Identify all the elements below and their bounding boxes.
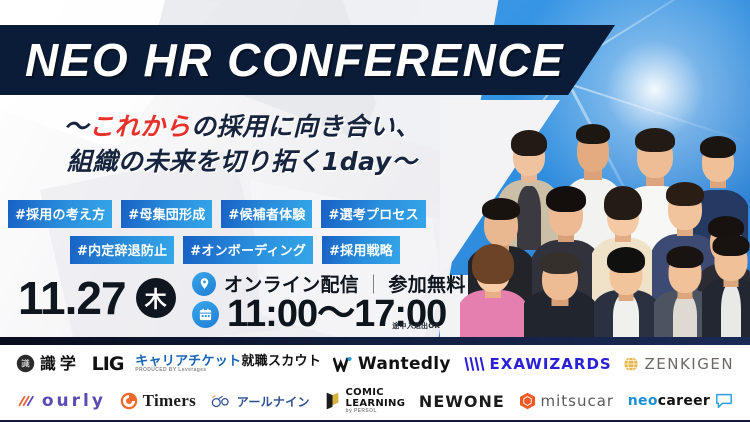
headline-band: NEO HR CONFERENCE xyxy=(0,25,615,95)
sponsor-logo-zenkigen[interactable]: ZENKIGEN xyxy=(623,355,734,373)
svg-text:識: 識 xyxy=(21,358,30,370)
tag-item[interactable]: #採用戦略 xyxy=(322,236,400,264)
sponsor-logo-bar: 識 識学 LIG キャリアチケット就職スカウト PRODUCED BY Leve… xyxy=(0,345,750,422)
sponsor-name-part2: 就職スカウト xyxy=(241,354,321,369)
sponsor-logo-career-ticket[interactable]: キャリアチケット就職スカウト PRODUCED BY Leverages xyxy=(135,355,321,373)
mitsucar-hex-icon xyxy=(519,392,536,410)
sponsor-logo-ourly[interactable]: ourly xyxy=(17,391,106,411)
tag-item[interactable]: #採用の考え方 xyxy=(8,200,112,228)
speaker-portrait xyxy=(594,242,658,345)
sponsor-logo-wantedly[interactable]: Wantedly xyxy=(333,354,451,374)
ourly-slashes-icon xyxy=(17,393,37,409)
timers-spiral-icon xyxy=(120,392,138,410)
sponsor-name-part1: neo xyxy=(628,393,658,409)
exawizards-stripes-icon xyxy=(463,356,485,372)
sponsor-logo-shikigaku[interactable]: 識 識学 xyxy=(16,354,80,373)
date-number: 11.27 xyxy=(18,275,126,321)
tag-row-1: #採用の考え方 #母集団形成 #候補者体験 #選考プロセス xyxy=(8,200,460,228)
day-of-week-badge: 木 xyxy=(136,278,176,318)
sponsor-logo-newone[interactable]: NEWONE xyxy=(419,392,505,411)
sponsor-logo-mitsucar[interactable]: mitsucar xyxy=(519,392,615,410)
sponsor-name: Timers xyxy=(143,391,196,411)
sponsor-name: Wantedly xyxy=(358,354,451,374)
sponsor-logo-r-nine[interactable]: アールナイン xyxy=(210,393,310,410)
location-pin-icon xyxy=(192,272,216,296)
speaker-photo-collage xyxy=(440,100,750,345)
sponsor-logo-lig[interactable]: LIG xyxy=(92,353,124,375)
sponsor-name-part2: career xyxy=(658,393,710,409)
subtitle-prefix: 〜 xyxy=(63,112,89,141)
zenkigen-globe-icon xyxy=(623,356,639,372)
event-date: 11.27 木 xyxy=(18,275,176,321)
sponsor-subtext: PRODUCED BY Leverages xyxy=(135,368,206,373)
sponsor-row-1: 識 識学 LIG キャリアチケット就職スカウト PRODUCED BY Leve… xyxy=(0,345,750,383)
sponsor-name: neocareer xyxy=(628,393,710,409)
page-title: NEO HR CONFERENCE xyxy=(25,33,564,87)
sponsor-name: キャリアチケット就職スカウト xyxy=(135,355,321,368)
wantedly-w-icon xyxy=(333,356,353,372)
sponsor-name: ZENKIGEN xyxy=(644,355,734,373)
sponsor-logo-comic-learning[interactable]: COMIC LEARNING by PERSOL xyxy=(324,388,406,414)
sponsor-name: LIG xyxy=(92,353,124,375)
section-divider xyxy=(0,337,750,345)
speaker-portrait xyxy=(702,226,750,345)
sponsor-logo-exawizards[interactable]: EXAWIZARDS xyxy=(463,355,612,373)
sponsor-name: NEWONE xyxy=(419,392,505,411)
r-nine-symbol-icon xyxy=(210,393,232,409)
speaker-portrait xyxy=(524,246,596,345)
tag-item[interactable]: #選考プロセス xyxy=(321,200,425,228)
subtitle-line2: 組織の未来を切り拓く1day〜 xyxy=(22,145,462,180)
sponsor-name: mitsucar xyxy=(541,392,615,410)
conference-poster: NEO HR CONFERENCE 〜これからの採用に向き合い、 組織の未来を切… xyxy=(0,0,750,422)
tag-item[interactable]: #内定辞退防止 xyxy=(70,236,174,264)
comic-learning-book-icon xyxy=(324,391,341,411)
subtitle-accent: これから xyxy=(89,112,191,141)
topic-tags: #採用の考え方 #母集団形成 #候補者体験 #選考プロセス #内定辞退防止 #オ… xyxy=(8,200,460,272)
sponsor-name: アールナイン xyxy=(237,393,310,410)
sponsor-row-2: ourly Timers アールナイン COMIC xyxy=(0,383,750,421)
speech-bubble-icon xyxy=(715,393,733,409)
sponsor-name: EXAWIZARDS xyxy=(490,355,612,373)
tag-item[interactable]: #候補者体験 xyxy=(221,200,312,228)
tag-row-2: #内定辞退防止 #オンボーディング #採用戦略 xyxy=(8,236,460,264)
sponsor-name: ourly xyxy=(42,391,106,411)
subtitle: 〜これからの採用に向き合い、 組織の未来を切り拓く1day〜 xyxy=(22,110,462,179)
tag-item[interactable]: #オンボーディング xyxy=(183,236,313,264)
sponsor-name: 識学 xyxy=(40,356,80,372)
speaker-portrait xyxy=(460,238,526,345)
sponsor-logo-neocareer[interactable]: neocareer xyxy=(628,393,733,409)
tag-item[interactable]: #母集団形成 xyxy=(121,200,212,228)
sponsor-logo-timers[interactable]: Timers xyxy=(120,391,196,411)
subtitle-rest: の採用に向き合い、 xyxy=(191,112,421,141)
event-note: 途中入退出OK xyxy=(186,321,440,331)
sponsor-subtext: by PERSOL xyxy=(346,409,377,414)
shikigaku-seal-icon: 識 xyxy=(16,354,35,373)
